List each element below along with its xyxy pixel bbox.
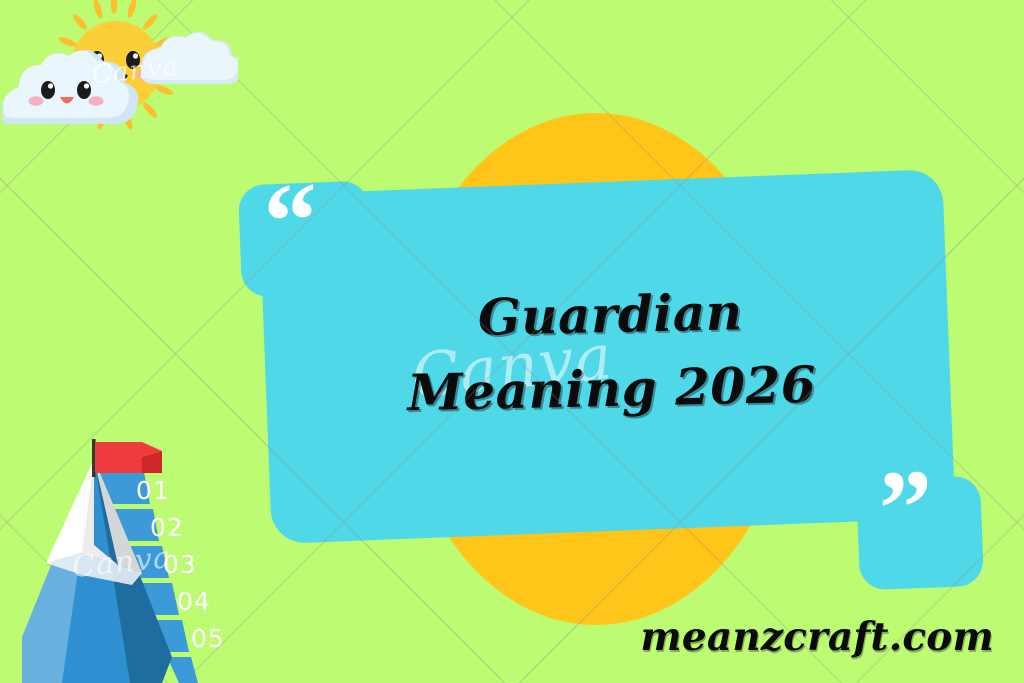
open-quote-icon: “ — [262, 167, 320, 277]
mountain-steps-infographic: 01 02 03 04 05 — [22, 425, 262, 683]
flag-banner — [95, 442, 142, 473]
cloud-right-icon — [141, 32, 238, 84]
step-label-01: 01 — [136, 476, 170, 505]
step-label-05: 05 — [191, 624, 225, 653]
step-label-04: 04 — [177, 587, 211, 616]
site-url-label: meanzcraft.com — [640, 614, 994, 660]
step-06-partial — [167, 657, 198, 683]
close-quote-icon: ” — [877, 454, 935, 564]
page-title: Guardian Meaning 2026 — [265, 271, 958, 433]
step-label-02: 02 — [150, 513, 184, 542]
sun-and-clouds-illustration — [2, 0, 238, 150]
step-label-03: 03 — [163, 550, 197, 579]
poster-canvas: “ ” Canva Guardian Meaning 2026 — [0, 0, 1024, 683]
